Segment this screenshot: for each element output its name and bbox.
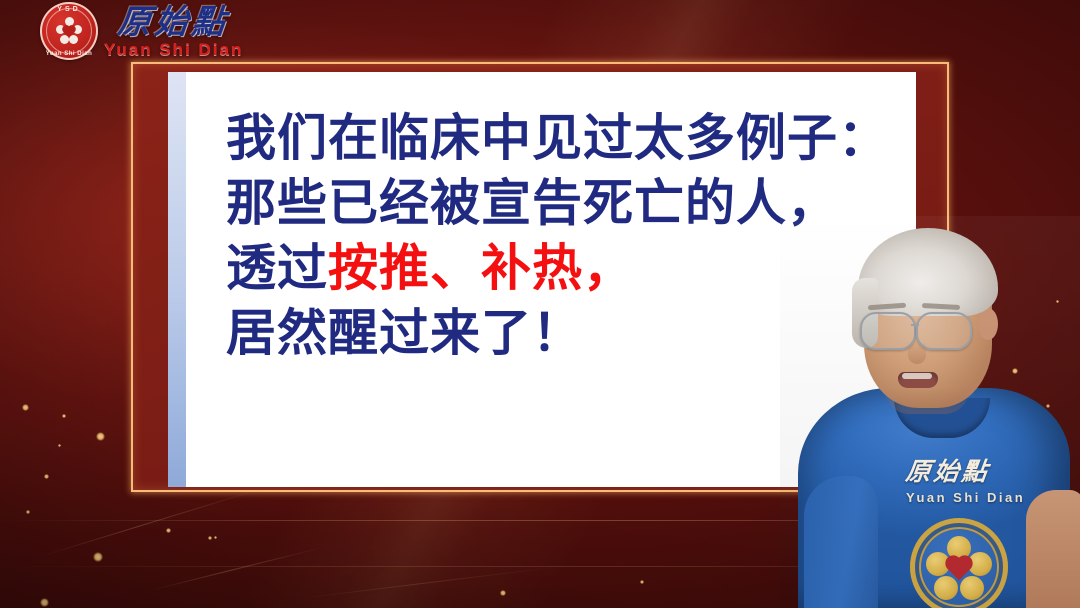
- slide-line-3-prefix: 透过: [226, 240, 328, 296]
- slide-line-1: 我们在临床中见过太多例子：: [226, 106, 904, 171]
- seal-petal: [69, 35, 78, 44]
- brand-wordmark: 原始點 Yuan Shi Dian: [104, 5, 243, 58]
- presenter-nose: [908, 342, 926, 364]
- emblem-petal: [960, 576, 984, 600]
- brand-wordmark-en: Yuan Shi Dian: [104, 41, 243, 58]
- presenter-chin-shadow: [884, 388, 970, 414]
- presenter-figure: 原始點 Yuan Shi Dian: [780, 216, 1080, 608]
- slide-line-3-highlight: 按推、补热，: [328, 240, 634, 296]
- brand-logo: YSD Yuan Shi Dian 原始點 Yuan Shi Dian: [40, 2, 243, 60]
- shirt-logo: 原始點 Yuan Shi Dian: [906, 452, 1056, 505]
- presenter-glasses-bridge: [911, 324, 919, 326]
- seal-top-text: YSD: [40, 6, 98, 13]
- presenter-ear: [978, 308, 998, 340]
- slide-accent-bar: [168, 72, 186, 487]
- shirt-logo-cn: 原始點: [904, 452, 1058, 488]
- seal-flower-icon: [56, 18, 82, 44]
- brand-wordmark-cn: 原始點: [116, 5, 230, 38]
- presenter-teeth: [902, 373, 932, 379]
- seal-bottom-text: Yuan Shi Dian: [40, 51, 98, 57]
- presenter-sleeve: [804, 476, 878, 608]
- brand-seal-icon: YSD Yuan Shi Dian: [40, 2, 98, 60]
- shirt-emblem-icon: [910, 518, 1008, 608]
- presenter-arm: [1026, 490, 1080, 608]
- video-frame: 我们在临床中见过太多例子： 那些已经被宣告死亡的人， 透过按推、补热， 居然醒过…: [0, 0, 1080, 608]
- emblem-petal: [934, 576, 958, 600]
